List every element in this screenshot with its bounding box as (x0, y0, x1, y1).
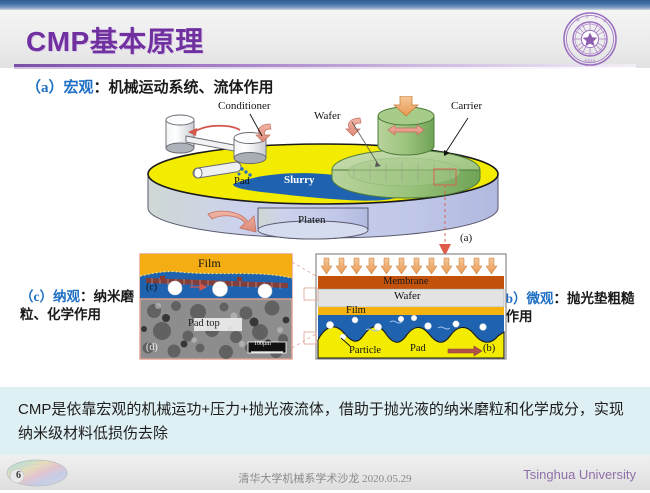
caption-micro-sep: ： (554, 291, 568, 306)
figure-canvas (138, 96, 508, 364)
top-accent-bar (0, 0, 650, 10)
footer-university-name: Tsinghua University (523, 467, 636, 482)
svg-text:华: 华 (585, 14, 589, 19)
caption-nano-sep: ： (80, 289, 94, 304)
summary-note-text: CMP是依靠宏观的机械运功+压力+抛光液流体，借助于抛光液的纳米磨粒和化学成分，… (18, 398, 636, 446)
caption-nano-label: （c）纳观 (20, 289, 80, 304)
caption-macro-sep: ： (94, 80, 109, 96)
page-title: CMP基本原理 (26, 20, 204, 60)
caption-macro-label: （a）宏观 (26, 80, 94, 96)
cmp-principle-figure: Conditioner Wafer Carrier Pad Slurry Pla… (138, 96, 508, 364)
caption-nano: （c）纳观：纳米磨粒、化学作用 (20, 288, 142, 324)
caption-macro: （a）宏观：机械运动系统、流体作用 (26, 76, 274, 97)
caption-macro-text: 机械运动系统、流体作用 (109, 80, 274, 96)
header-divider-light (14, 67, 636, 69)
panel-b (292, 254, 506, 359)
panel-d (140, 299, 292, 359)
caption-micro: （b）微观：抛光垫粗糙峰作用 (492, 290, 642, 326)
panel-c (140, 254, 292, 299)
tsinghua-seal-icon: 清华 大学 自强不息 (562, 11, 618, 67)
svg-text:自强不息: 自强不息 (584, 59, 595, 63)
